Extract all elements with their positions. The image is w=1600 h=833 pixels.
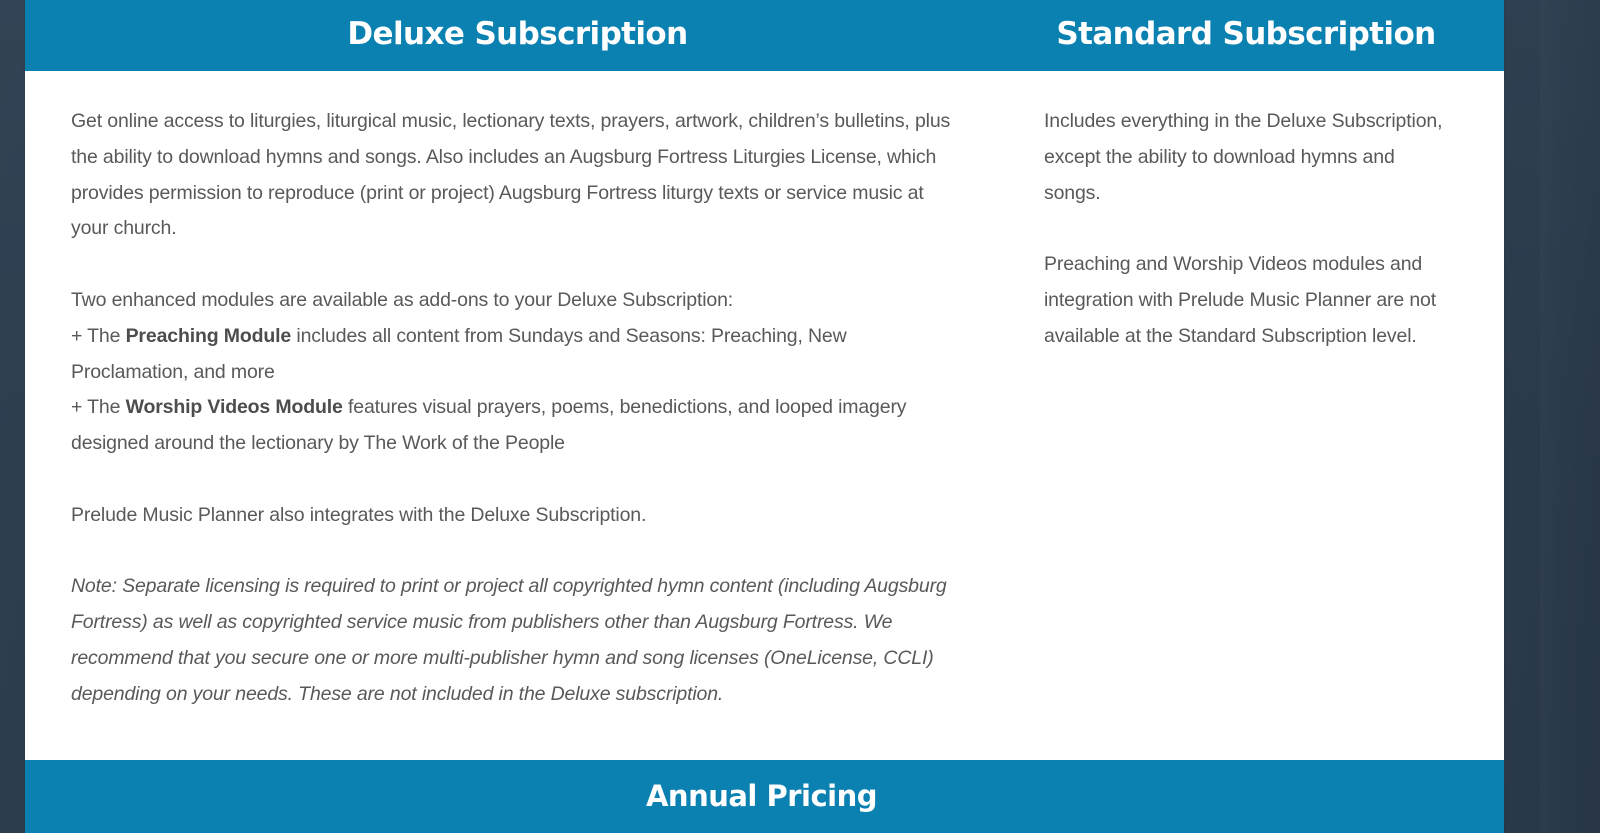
deluxe-modules-lead: Two enhanced modules are available as ad… [71,283,960,319]
standard-paragraph-one: Includes everything in the Deluxe Subscr… [1044,104,1444,211]
deluxe-column: Get online access to liturgies, liturgic… [25,71,1010,760]
comparison-header-band: Deluxe Subscription Standard Subscriptio… [25,0,1504,71]
deluxe-header-cell: Deluxe Subscription [25,0,1010,71]
deluxe-intro-paragraph: Get online access to liturgies, liturgic… [71,104,960,247]
worship-videos-module-name: Worship Videos Module [126,396,343,418]
deluxe-licensing-note: Note: Separate licensing is required to … [71,569,960,712]
deluxe-subscription-title: Deluxe Subscription [347,19,687,50]
preaching-module-name: Preaching Module [126,325,292,347]
page-background: Deluxe Subscription Standard Subscriptio… [0,0,1600,833]
deluxe-prelude-paragraph: Prelude Music Planner also integrates wi… [71,498,960,534]
standard-paragraph-two: Preaching and Worship Videos modules and… [1044,247,1444,354]
annual-pricing-band: Annual Pricing [25,760,1504,833]
subscription-comparison-card: Deluxe Subscription Standard Subscriptio… [25,0,1504,833]
standard-header-cell: Standard Subscription [1010,0,1504,71]
annual-pricing-title: Annual Pricing [646,782,877,811]
standard-subscription-title: Standard Subscription [1056,19,1435,50]
module-one-prefix: + The [71,325,126,347]
module-two-prefix: + The [71,396,126,418]
deluxe-module-worship-videos: + The Worship Videos Module features vis… [71,390,960,462]
standard-column: Includes everything in the Deluxe Subscr… [1010,71,1504,760]
comparison-body: Get online access to liturgies, liturgic… [25,71,1504,760]
deluxe-module-preaching: + The Preaching Module includes all cont… [71,319,960,391]
